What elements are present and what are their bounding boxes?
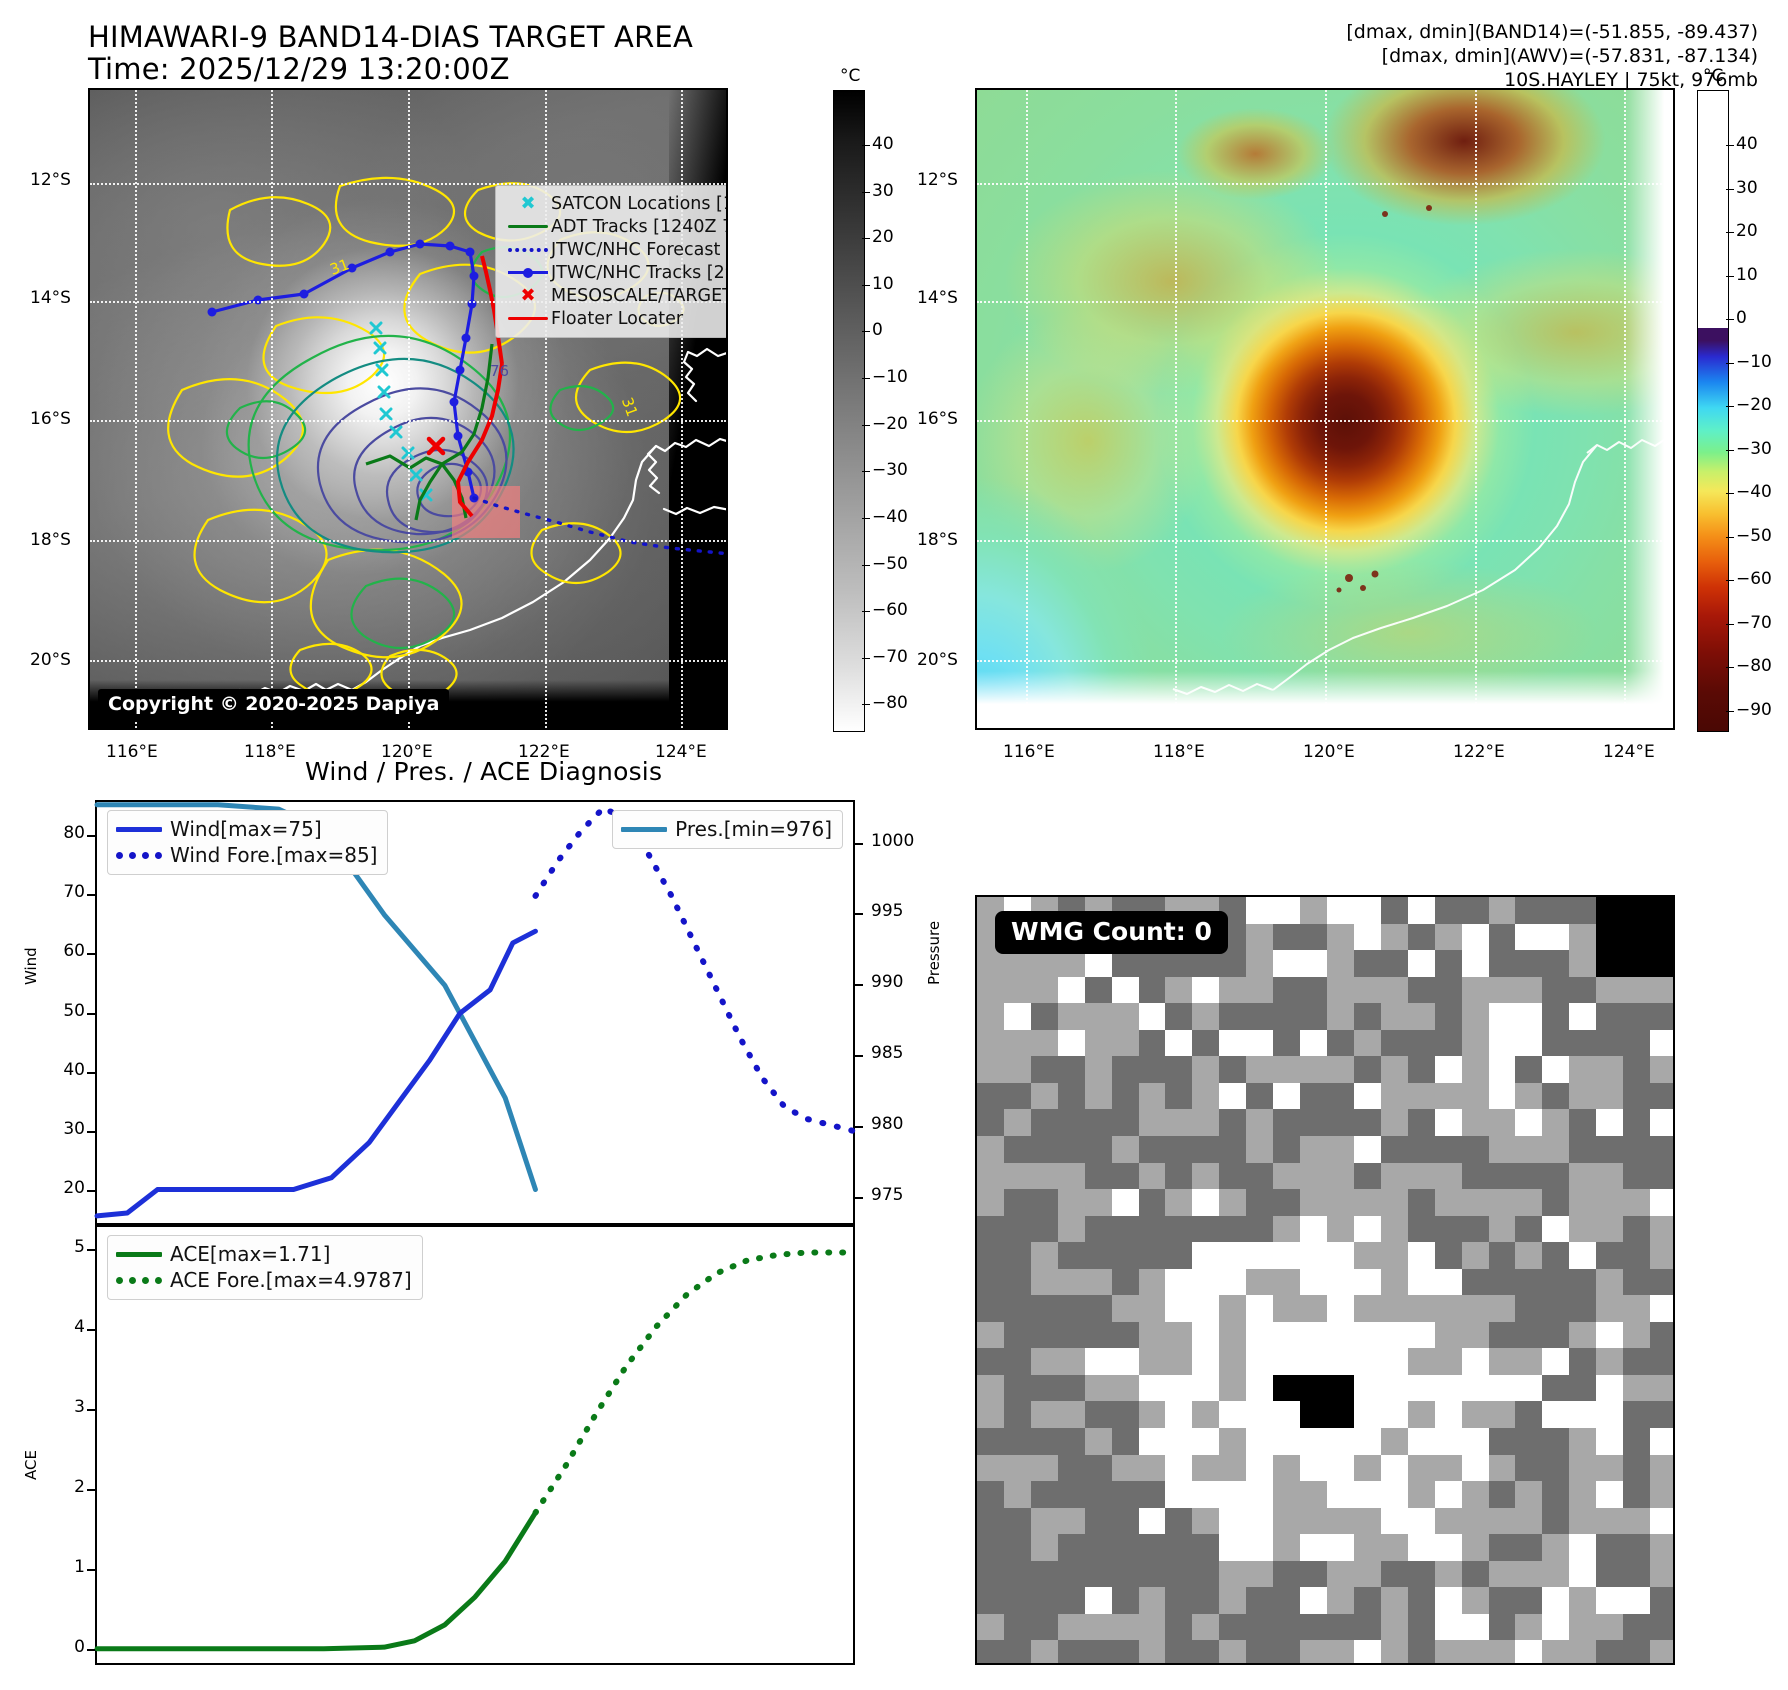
wmg-cell [1085,1242,1113,1269]
wmg-cell [1273,1561,1301,1588]
wmg-cell [1569,1056,1597,1083]
wmg-cell [1192,1163,1220,1190]
satellite-map-awv-enhanced[interactable] [975,88,1675,730]
colorbar-tick: 20 [872,227,894,247]
wmg-cell [1192,1348,1220,1375]
solid-line-icon [505,225,551,228]
ace-axis-label: ACE [22,1450,40,1480]
wmg-cell [1327,1348,1355,1375]
wmg-cell [1139,1561,1167,1588]
wmg-cell [1542,1614,1570,1641]
wmg-cell [1273,924,1301,951]
wmg-cell [1462,950,1490,977]
wmg-cell [1219,1561,1247,1588]
wmg-cell [1031,1375,1059,1402]
wmg-cell [1381,924,1409,951]
wmg-cell [1300,1030,1328,1057]
wmg-cell [1515,1455,1543,1482]
wmg-cell [1300,1508,1328,1535]
wmg-cell [1381,1508,1409,1535]
wmg-cell [1004,1322,1032,1349]
wmg-cell [1085,1348,1113,1375]
wmg-cell [1139,1534,1167,1561]
wmg-cell [977,1109,1005,1136]
colorbar-tick-mark [1726,580,1734,581]
wmg-cell [1462,1136,1490,1163]
pressure-tick-mark [855,843,863,845]
wmg-cell [1085,1056,1113,1083]
wmg-cell [1273,1534,1301,1561]
wmg-cell [1381,1428,1409,1455]
wmg-cell [1112,1428,1140,1455]
wmg-cell [1542,1455,1570,1482]
wmg-cell [1139,1587,1167,1614]
wmg-cell [1462,924,1490,951]
wmg-cell [1489,1508,1517,1535]
colorbar-tick: 0 [1736,308,1747,328]
wmg-cell [977,1401,1005,1428]
wmg-cell [1273,897,1301,924]
wmg-cell [1569,1455,1597,1482]
colorbar-tick-mark [1726,711,1734,712]
wmg-cell [1569,1401,1597,1428]
wmg-cell [1515,1163,1543,1190]
wmg-cell [1381,1295,1409,1322]
wmg-cell [1462,1481,1490,1508]
lat-tick-18s: 18°S [30,530,71,550]
wmg-cell [1623,1428,1651,1455]
wmg-cell [1408,1189,1436,1216]
wmg-cell [1058,950,1086,977]
wmg-cell [1139,1030,1167,1057]
header-dmax-awv: [dmax, dmin](AWV)=(-57.831, -87.134) [1382,45,1758,67]
wmg-cell [1031,1003,1059,1030]
wind-tick-label: 60 [49,941,85,961]
wmg-cell [1139,1428,1167,1455]
wmg-cell [1650,897,1675,924]
wmg-cell [977,1083,1005,1110]
wmg-cell [1139,1109,1167,1136]
wmg-cell [977,1269,1005,1296]
wmg-cell [1408,1428,1436,1455]
wmg-cell [1273,1189,1301,1216]
wmg-cell [1085,977,1113,1004]
wmg-cell [1085,1508,1113,1535]
wmg-cell [1139,1189,1167,1216]
wmg-cell [1569,1561,1597,1588]
ace-tick-mark [87,1649,95,1651]
wmg-cell [1219,1216,1247,1243]
wmg-cell [1462,1322,1490,1349]
ace-tick-mark [87,1249,95,1251]
wmg-cell [1408,1269,1436,1296]
pressure-legend: Pres.[min=976] [612,810,843,849]
wmg-cell [1004,1163,1032,1190]
wmg-cell [1219,1056,1247,1083]
wmg-cell [1192,1003,1220,1030]
wmg-cell [1139,1216,1167,1243]
wmg-cell [1112,1322,1140,1349]
wmg-cell [1327,1003,1355,1030]
wmg-cell [1246,1322,1274,1349]
wmg-cell [1462,1640,1490,1665]
wmg-cell [977,1003,1005,1030]
wmg-cell [1246,1295,1274,1322]
wmg-cell [1381,1640,1409,1665]
wmg-cell [1569,1030,1597,1057]
ace-tick-label: 2 [55,1477,85,1497]
wmg-cell [1273,1109,1301,1136]
wmg-cell [1381,1322,1409,1349]
wmg-cell [1462,1109,1490,1136]
legend-item-jtwc-forecast: JTWC/NHC Forecast [29/1200Z] [505,238,728,261]
wmg-cell [1542,1428,1570,1455]
wmg-cell [1381,1401,1409,1428]
lat-tick-r-16s: 16°S [917,409,958,429]
wmg-cell [1542,1534,1570,1561]
colorbar-tick: 40 [872,134,894,154]
wmg-cell [1354,924,1382,951]
wmg-cell [1219,1455,1247,1482]
wmg-cell [1031,1056,1059,1083]
colorbar-tick-mark [1726,189,1734,190]
wmg-cell [1354,1109,1382,1136]
wmg-cell [977,1481,1005,1508]
wmg-cell [1408,950,1436,977]
wmg-cell [1569,924,1597,951]
gridline-r-lon-122e [1475,90,1477,728]
wmg-cell [1623,950,1651,977]
wmg-cell [1004,1216,1032,1243]
wmg-cell [1462,1189,1490,1216]
wmg-cell [1569,1242,1597,1269]
wmg-cell [1650,1136,1675,1163]
wmg-cell [1085,1109,1113,1136]
wmg-cell [1408,1534,1436,1561]
satellite-map-band14[interactable]: 31 31 76 Copyright © 2020-2025 Dapiya ✖ … [88,88,728,730]
wmg-cell [1489,1056,1517,1083]
wmg-cell [1354,1481,1382,1508]
wmg-cell-grid [977,897,1673,1663]
wmg-cell [1354,1295,1382,1322]
colorbar-tick: −20 [872,414,908,434]
wmg-cell [1408,1003,1436,1030]
wmg-cell [1381,1136,1409,1163]
colorbar-tick-mark [862,331,870,332]
wmg-cell [1381,1534,1409,1561]
wmg-cell [1112,1534,1140,1561]
wmg-cell [1058,1614,1086,1641]
wmg-cell [1596,1614,1624,1641]
colorbar-tick: −10 [872,367,908,387]
wmg-cell [1085,1269,1113,1296]
wmg-cell [1273,1375,1301,1402]
wmg-cell [1650,924,1675,951]
wmg-cell [1112,977,1140,1004]
wmg-cell [1327,1481,1355,1508]
wind-forecast-line [535,808,853,1131]
wmg-cell [1085,1534,1113,1561]
wmg-cell [1031,977,1059,1004]
wmg-cell [1085,1455,1113,1482]
wind-legend: Wind[max=75] Wind Fore.[max=85] [107,810,388,875]
wmg-cell [1623,1083,1651,1110]
wmg-cell [1489,1401,1517,1428]
wmg-cell [1004,1030,1032,1057]
wmg-cell [1246,1481,1274,1508]
ace-forecast-line [535,1252,853,1512]
gridline-r-lon-120e [1325,90,1327,728]
wmg-cell [1300,1614,1328,1641]
wmg-cell [1058,1428,1086,1455]
wmg-cell [1650,1269,1675,1296]
wmg-cell [1542,1401,1570,1428]
wmg-cell [1408,1163,1436,1190]
wmg-cell [1085,1189,1113,1216]
wmg-cell [1569,1109,1597,1136]
lat-tick-r-14s: 14°S [917,288,958,308]
wmg-cell [1273,1401,1301,1428]
legend-label: ADT Tracks [1240Z 74.6 977.2] [551,217,728,237]
wind-tick-label: 70 [49,882,85,902]
wmg-cell [1596,1189,1624,1216]
wmg-cell [1327,1322,1355,1349]
wmg-cell [1246,977,1274,1004]
wmg-cell [1273,1269,1301,1296]
wmg-cell [1435,1216,1463,1243]
wmg-cell [1327,1401,1355,1428]
wmg-cell [1650,1401,1675,1428]
wmg-cell [1112,1375,1140,1402]
wmg-cell [1112,1136,1140,1163]
wmg-cell [1354,1189,1382,1216]
wmg-cell [1515,1269,1543,1296]
legend-label: Wind Fore.[max=85] [170,843,377,867]
wmg-cell [1246,1003,1274,1030]
wmg-cell [1273,1322,1301,1349]
legend-item-ace-forecast: ACE Fore.[max=4.9787] [116,1267,412,1293]
wmg-cell [1408,977,1436,1004]
wind-tick-mark [87,1190,95,1192]
wind-pressure-chart[interactable]: Wind[max=75] Wind Fore.[max=85] Pres.[mi… [95,800,855,1225]
wmg-cell [1112,1614,1140,1641]
wmg-cell [1031,950,1059,977]
wmg-cell [1219,1348,1247,1375]
colorbar-tick: −80 [872,693,908,713]
wmg-cell [1192,1375,1220,1402]
wmg-cell [1165,1083,1193,1110]
wmg-cell [1300,1375,1328,1402]
wmg-cell [977,1322,1005,1349]
colorbar-tick: 10 [872,274,894,294]
wmg-cell [1435,1269,1463,1296]
wmg-cell [1085,1481,1113,1508]
wmg-cell [1165,1587,1193,1614]
wmg-cell [1165,1269,1193,1296]
wmg-cell [1408,1614,1436,1641]
wmg-cell [1354,1534,1382,1561]
wmg-map-panel[interactable]: WMG Count: 0 [975,895,1675,1665]
wmg-cell [1354,1401,1382,1428]
wmg-cell [1246,1587,1274,1614]
wmg-cell [1596,1322,1624,1349]
lon-tick-r-116e: 116°E [1003,742,1055,762]
colorbar-tick-mark [1726,493,1734,494]
wmg-cell [1515,1216,1543,1243]
wmg-cell [1462,1056,1490,1083]
wmg-cell [1327,1508,1355,1535]
wmg-cell [1112,1056,1140,1083]
wmg-cell [1650,1375,1675,1402]
wmg-cell [1596,1109,1624,1136]
wmg-cell [1569,977,1597,1004]
wmg-cell [1112,1083,1140,1110]
wmg-cell [1354,1136,1382,1163]
wmg-cell [1489,1295,1517,1322]
wmg-cell [1515,1640,1543,1665]
wmg-cell [1542,1348,1570,1375]
wmg-cell [1139,1295,1167,1322]
colorbar-tick-mark [862,192,870,193]
wmg-cell [977,1189,1005,1216]
wind-line [97,931,535,1216]
wmg-cell [1139,1455,1167,1482]
wmg-cell [1246,1163,1274,1190]
wmg-cell [1004,1109,1032,1136]
colorbar-tick: −20 [1736,395,1772,415]
wmg-cell [1273,1216,1301,1243]
wmg-cell [1381,1003,1409,1030]
wmg-cell [1623,1242,1651,1269]
wmg-cell [1569,950,1597,977]
wmg-cell [1165,1614,1193,1641]
wmg-cell [1435,1056,1463,1083]
wmg-cell [1650,1348,1675,1375]
wmg-cell [977,1242,1005,1269]
wmg-cell [1596,1587,1624,1614]
wmg-cell [1273,1136,1301,1163]
wmg-cell [1650,1189,1675,1216]
wmg-cell [1058,1269,1086,1296]
wmg-cell [1489,1242,1517,1269]
wmg-cell [1327,1109,1355,1136]
wmg-cell [1246,1508,1274,1535]
wmg-cell [1139,950,1167,977]
line-with-dot-icon [505,268,551,278]
wmg-cell [1569,1508,1597,1535]
wmg-cell [1031,1614,1059,1641]
wmg-cell [1650,950,1675,977]
wmg-cell [1623,1003,1651,1030]
wmg-cell [1246,1242,1274,1269]
wmg-cell [977,1295,1005,1322]
wmg-cell [1219,1136,1247,1163]
wmg-cell [1596,1216,1624,1243]
wmg-cell [1596,1242,1624,1269]
wmg-cell [1300,977,1328,1004]
wmg-cell [1031,1587,1059,1614]
wmg-cell [1139,1614,1167,1641]
wmg-cell [1246,1269,1274,1296]
wmg-cell [1219,1163,1247,1190]
wmg-cell [1462,977,1490,1004]
wind-tick-mark [87,1072,95,1074]
colorbar-tick-mark [862,471,870,472]
wmg-cell [1435,897,1463,924]
wmg-cell [1192,1455,1220,1482]
wmg-cell [1596,1481,1624,1508]
wmg-cell [1650,1508,1675,1535]
colorbar-tick: −60 [872,600,908,620]
pressure-tick-label: 980 [871,1114,903,1134]
wmg-cell [1515,1481,1543,1508]
wmg-cell [1139,1083,1167,1110]
wmg-cell [1354,1056,1382,1083]
x-marker-icon: ✖ [505,195,551,213]
wmg-cell [1031,1534,1059,1561]
wmg-cell [977,1508,1005,1535]
contour-label-76: 76 [490,362,509,380]
dashboard-root: HIMAWARI-9 BAND14-DIAS TARGET AREA Time:… [0,0,1788,1690]
wmg-cell [1112,1587,1140,1614]
wmg-cell [1139,1163,1167,1190]
wmg-cell [1381,1109,1409,1136]
wmg-cell [1462,1561,1490,1588]
wmg-cell [1300,1109,1328,1136]
colorbar-tick-mark [862,565,870,566]
pressure-tick-mark [855,913,863,915]
wmg-cell [1300,1561,1328,1588]
wmg-cell [1031,1269,1059,1296]
wmg-cell [1085,1003,1113,1030]
wmg-cell [1058,1481,1086,1508]
colorbar-right-awv [1697,90,1729,732]
wmg-cell [1408,1508,1436,1535]
wmg-cell [1623,1216,1651,1243]
wmg-cell [1112,1295,1140,1322]
wmg-cell [1112,1003,1140,1030]
wmg-cell [1542,924,1570,951]
ace-chart[interactable]: ACE[max=1.71] ACE Fore.[max=4.9787] [95,1225,855,1665]
wmg-cell [1273,1455,1301,1482]
wmg-cell [1112,1269,1140,1296]
wmg-cell [1219,1295,1247,1322]
lon-tick-124e: 124°E [655,742,707,762]
wmg-cell [1219,1242,1247,1269]
dotted-line-icon [116,1277,170,1284]
wmg-cell [1273,950,1301,977]
wmg-cell [1381,1481,1409,1508]
wmg-cell [1327,977,1355,1004]
wmg-cell [1112,1163,1140,1190]
colorbar-tick: −30 [872,460,908,480]
wmg-cell [1435,1561,1463,1588]
wmg-cell [1623,1401,1651,1428]
wmg-cell [1273,1242,1301,1269]
wmg-cell [1327,1375,1355,1402]
ace-tick-mark [87,1569,95,1571]
wmg-cell [1462,1003,1490,1030]
wmg-cell [1435,1587,1463,1614]
wmg-cell [1165,1163,1193,1190]
wmg-cell [1650,1322,1675,1349]
pressure-tick-mark [855,984,863,986]
wmg-cell [1246,1030,1274,1057]
wmg-cell [1273,1003,1301,1030]
wmg-cell [977,1136,1005,1163]
copyright-notice: Copyright © 2020-2025 Dapiya [98,689,449,720]
wmg-cell [1489,1216,1517,1243]
